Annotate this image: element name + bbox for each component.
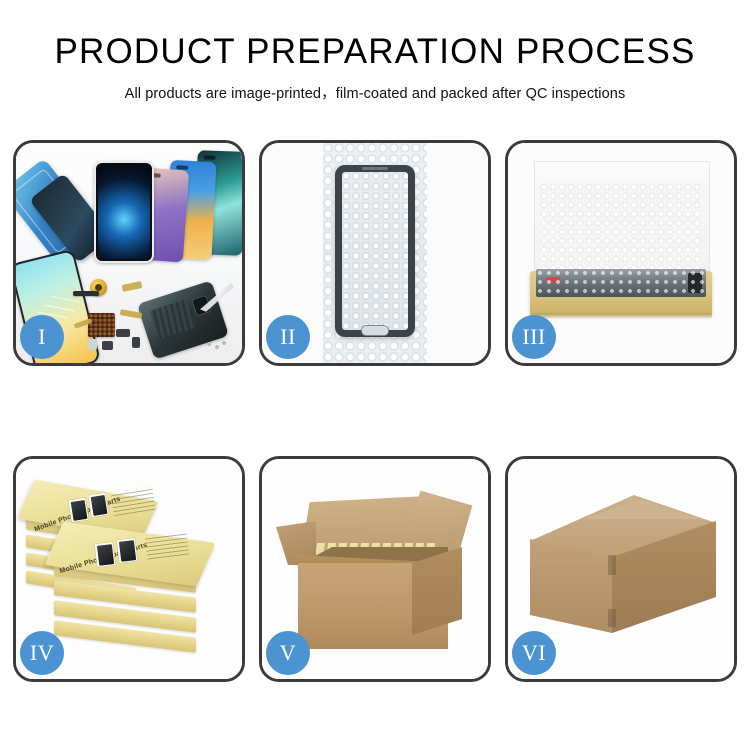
battery-connector-part	[132, 337, 140, 348]
box-thumbnail-1	[68, 498, 88, 522]
phone-wallpaper	[98, 165, 150, 259]
screen-inside-box	[536, 269, 706, 297]
carton-seam-bottom	[608, 609, 616, 627]
home-button-icon	[361, 325, 389, 336]
connector-part-1	[116, 329, 130, 337]
process-step-panel-6: VI	[505, 456, 737, 682]
process-step-panel-4: Mobile Phone Spare Parts Mobile Phone Sp…	[13, 456, 245, 682]
process-step-panel-3: III	[505, 140, 737, 366]
speaker-part	[73, 291, 99, 296]
phone-black-front	[94, 161, 154, 263]
process-step-panel-1: I	[13, 140, 245, 366]
carton-seam-top	[608, 555, 616, 575]
process-step-panel-2: II	[259, 140, 491, 366]
camera-icon	[204, 155, 216, 159]
step-badge-3: III	[512, 315, 556, 359]
page-title: PRODUCT PREPARATION PROCESS	[0, 34, 750, 69]
screen-connector-tab	[688, 273, 702, 293]
box-thumbnail-2	[88, 493, 108, 517]
notch-icon	[113, 165, 135, 170]
connector-part-3	[102, 341, 113, 350]
step-badge-1: I	[20, 315, 64, 359]
connector-part-2	[88, 339, 97, 350]
step-badge-5: V	[266, 631, 310, 675]
page-subtitle: All products are image-printed，film-coat…	[0, 82, 750, 103]
step-badge-6: VI	[512, 631, 556, 675]
process-step-panel-5: V	[259, 456, 491, 682]
box-thumbnail-4	[117, 538, 138, 563]
screen-red-marker	[546, 277, 560, 283]
bubble-wrap-sheet	[323, 143, 427, 363]
step-badge-4: IV	[20, 631, 64, 675]
process-step-grid: I II	[13, 140, 737, 685]
poster-header: PRODUCT PREPARATION PROCESS All products…	[0, 34, 750, 103]
screws-set	[206, 341, 228, 351]
wrapped-phone-screen	[335, 165, 415, 337]
box-front-edge	[530, 313, 712, 319]
box-spec-lines-front	[145, 531, 190, 560]
poster-root: PRODUCT PREPARATION PROCESS All products…	[0, 0, 750, 750]
foam-padding	[540, 183, 700, 273]
chip-array-part	[88, 313, 115, 337]
box-thumbnail-3	[95, 542, 116, 567]
step-badge-2: II	[266, 315, 310, 359]
screen-crack	[45, 305, 75, 312]
